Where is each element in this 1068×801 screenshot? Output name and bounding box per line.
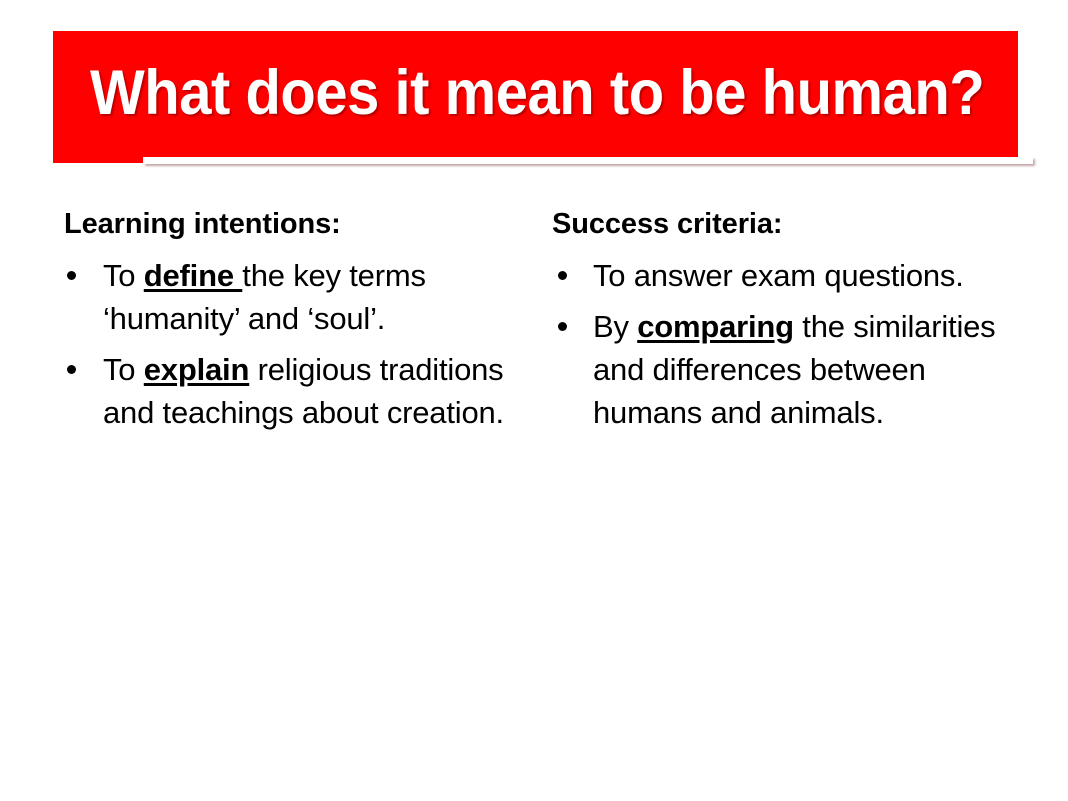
keyword-emphasis: define	[144, 258, 243, 293]
list-item: To explain religious traditions and teac…	[64, 348, 524, 434]
bullet-dot-icon	[558, 322, 567, 331]
bullet-text: To	[103, 258, 144, 293]
bullet-dot-icon	[558, 271, 567, 280]
title-underline-rule	[143, 157, 1033, 164]
learning-intentions-heading: Learning intentions:	[64, 206, 524, 242]
bullet-dot-icon	[67, 271, 76, 280]
list-item: By comparing the similarities and differ…	[552, 305, 1012, 434]
keyword-emphasis: explain	[144, 352, 249, 387]
learning-intentions-list: To define the key terms ‘humanity’ and ‘…	[64, 254, 524, 434]
title-banner: What does it mean to be human?	[53, 31, 1018, 163]
learning-intentions-column: Learning intentions: To define the key t…	[64, 206, 524, 442]
list-item: To answer exam questions.	[552, 254, 1012, 297]
keyword-emphasis: comparing	[637, 309, 794, 344]
slide-canvas: { "slide": { "title": "What does it mean…	[0, 0, 1068, 801]
success-criteria-list: To answer exam questions.By comparing th…	[552, 254, 1012, 434]
page-title: What does it mean to be human?	[90, 58, 911, 128]
success-criteria-column: Success criteria: To answer exam questio…	[552, 206, 1012, 442]
bullet-text: To answer exam questions.	[593, 258, 964, 293]
bullet-text: By	[593, 309, 637, 344]
success-criteria-heading: Success criteria:	[552, 206, 1012, 242]
bullet-dot-icon	[67, 365, 76, 374]
bullet-text: To	[103, 352, 144, 387]
list-item: To define the key terms ‘humanity’ and ‘…	[64, 254, 524, 340]
